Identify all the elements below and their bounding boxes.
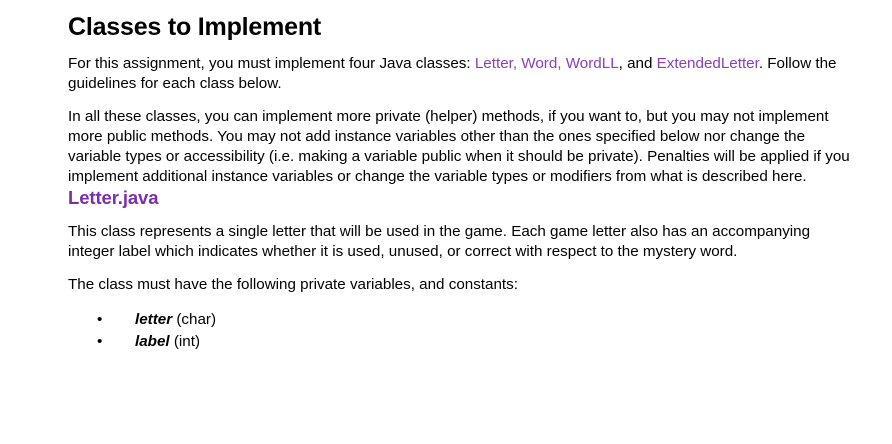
variables-intro-text: The class must have the following privat…	[68, 276, 518, 293]
intro-conjunction: , and	[619, 55, 657, 72]
variable-type: (char)	[172, 311, 216, 328]
class-description-text: This class represents a single letter th…	[68, 223, 810, 260]
paragraph-variables-intro: The class must have the following privat…	[68, 263, 852, 295]
list-item: • letter (char)	[68, 309, 852, 331]
page-title: Classes to Implement	[68, 0, 852, 42]
document-page: Classes to Implement For this assignment…	[0, 0, 892, 444]
class-link-list[interactable]: Letter, Word, WordLL	[475, 55, 619, 72]
list-item: • label (int)	[68, 331, 852, 353]
bullet-point-icon: •	[97, 309, 102, 331]
variable-name: label	[135, 333, 170, 350]
bullet-point-icon: •	[97, 331, 102, 353]
class-link-extendedletter[interactable]: ExtendedLetter	[657, 55, 759, 72]
private-variables-list: • letter (char) • label (int)	[68, 295, 852, 353]
variable-type: (int)	[170, 333, 200, 350]
paragraph-implementation-rules: In all these classes, you can implement …	[68, 95, 852, 210]
paragraph-class-description: This class represents a single letter th…	[68, 210, 852, 263]
file-heading-letter-java: Letter.java	[68, 187, 158, 208]
intro-lead-text: For this assignment, you must implement …	[68, 55, 475, 72]
variable-name: letter	[135, 311, 172, 328]
paragraph-assignment-intro: For this assignment, you must implement …	[68, 42, 852, 95]
implementation-rules-text: In all these classes, you can implement …	[68, 108, 850, 186]
